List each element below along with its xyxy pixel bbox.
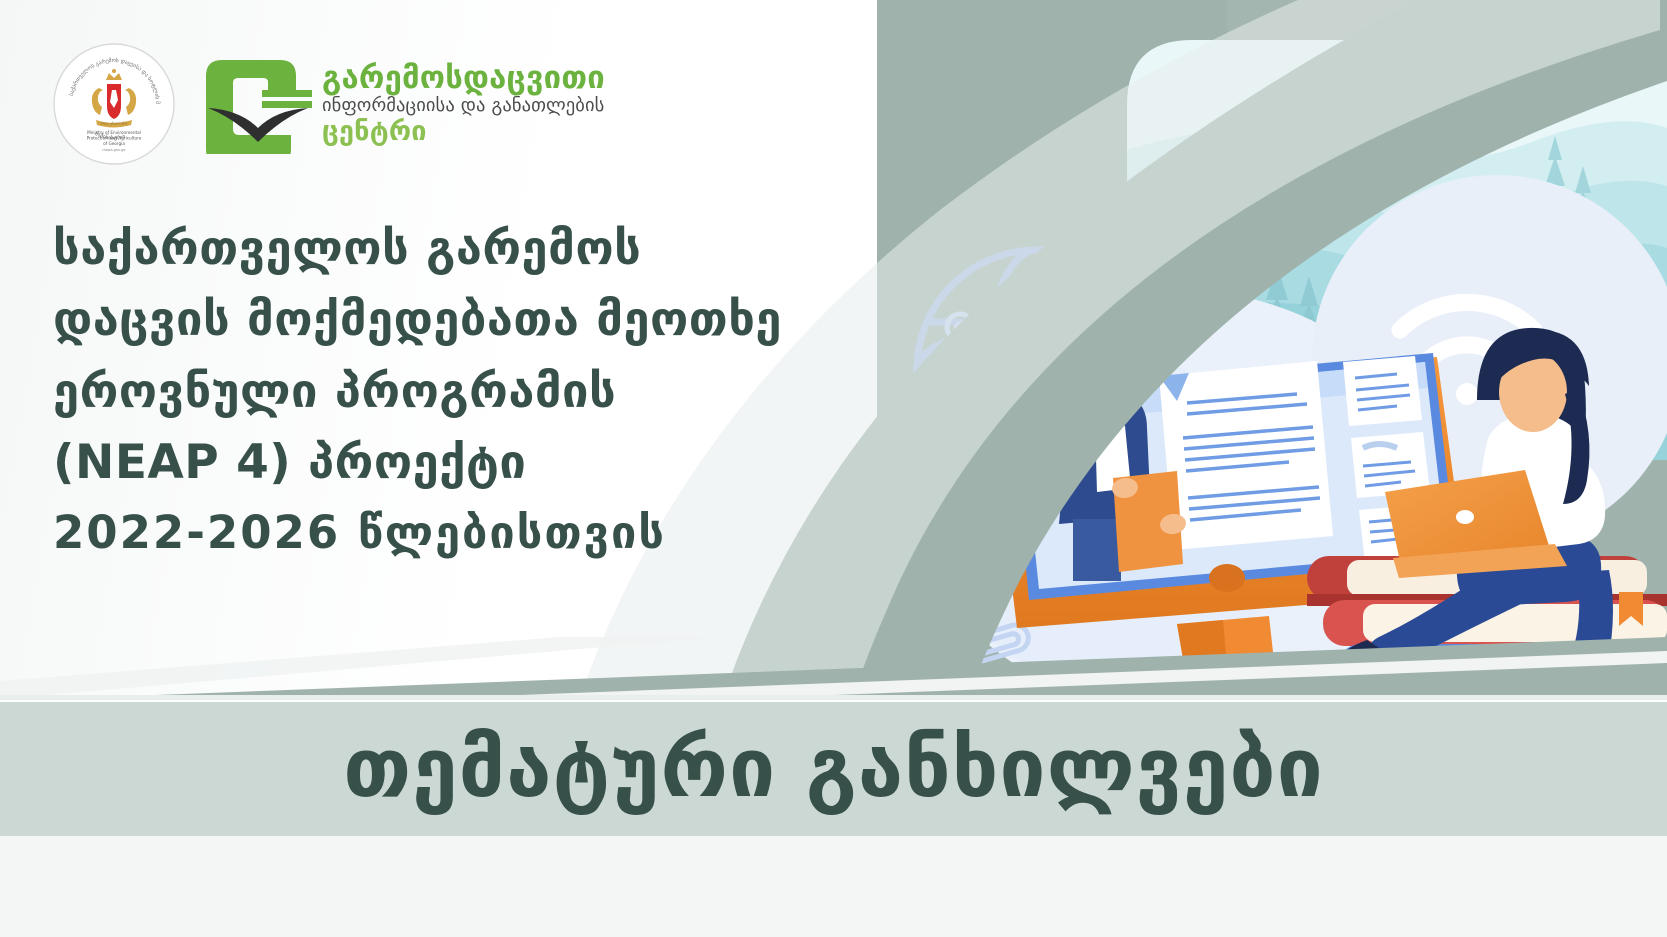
title-line-2: დაცვის მოქმედებათა მეოთხე — [53, 284, 753, 355]
eic-line-3: ცენტრი — [322, 118, 605, 145]
title-line-5: 2022-2026 წლებისთვის — [53, 499, 753, 567]
eic-wordmark: გარემოსდაცვითი ინფორმაციისა და განათლები… — [322, 63, 605, 146]
banner-footer-strip — [0, 836, 1667, 937]
page-title: საქართველოს გარემოს დაცვის მოქმედებათა მ… — [53, 213, 753, 567]
svg-text:of Georgia: of Georgia — [103, 141, 125, 146]
open-book-logo — [204, 54, 312, 154]
title-line-3: ეროვნული პროგრამის — [53, 356, 753, 427]
title-line-1: საქართველოს გარემოს — [53, 213, 753, 284]
svg-text:mepa.gov.ge: mepa.gov.ge — [102, 148, 126, 152]
title-line-4: (NEAP 4) პროექტი — [53, 427, 753, 498]
svg-text:ძალა ერთობაშია: ძალა ერთობაშია — [101, 122, 128, 126]
poster-canvas: საქართველოს გარემოს დაცვისა და სოფლის მე… — [0, 0, 1667, 937]
eic-line-2: ინფორმაციისა და განათლების — [322, 97, 605, 116]
logo-row: საქართველოს გარემოს დაცვისა და სოფლის მე… — [52, 42, 605, 166]
svg-text:Ministry of Environmental: Ministry of Environmental — [87, 130, 141, 135]
banner-title: თემატური განხილვები — [0, 700, 1667, 836]
bottom-banner: თემატური განხილვები — [0, 637, 1667, 937]
eic-logo: გარემოსდაცვითი ინფორმაციისა და განათლები… — [204, 54, 605, 154]
svg-text:Protection and Agriculture: Protection and Agriculture — [87, 136, 142, 141]
eic-line-1: გარემოსდაცვითი — [322, 63, 605, 94]
georgia-ministry-emblem: საქართველოს გარემოს დაცვისა და სოფლის მე… — [52, 42, 176, 166]
